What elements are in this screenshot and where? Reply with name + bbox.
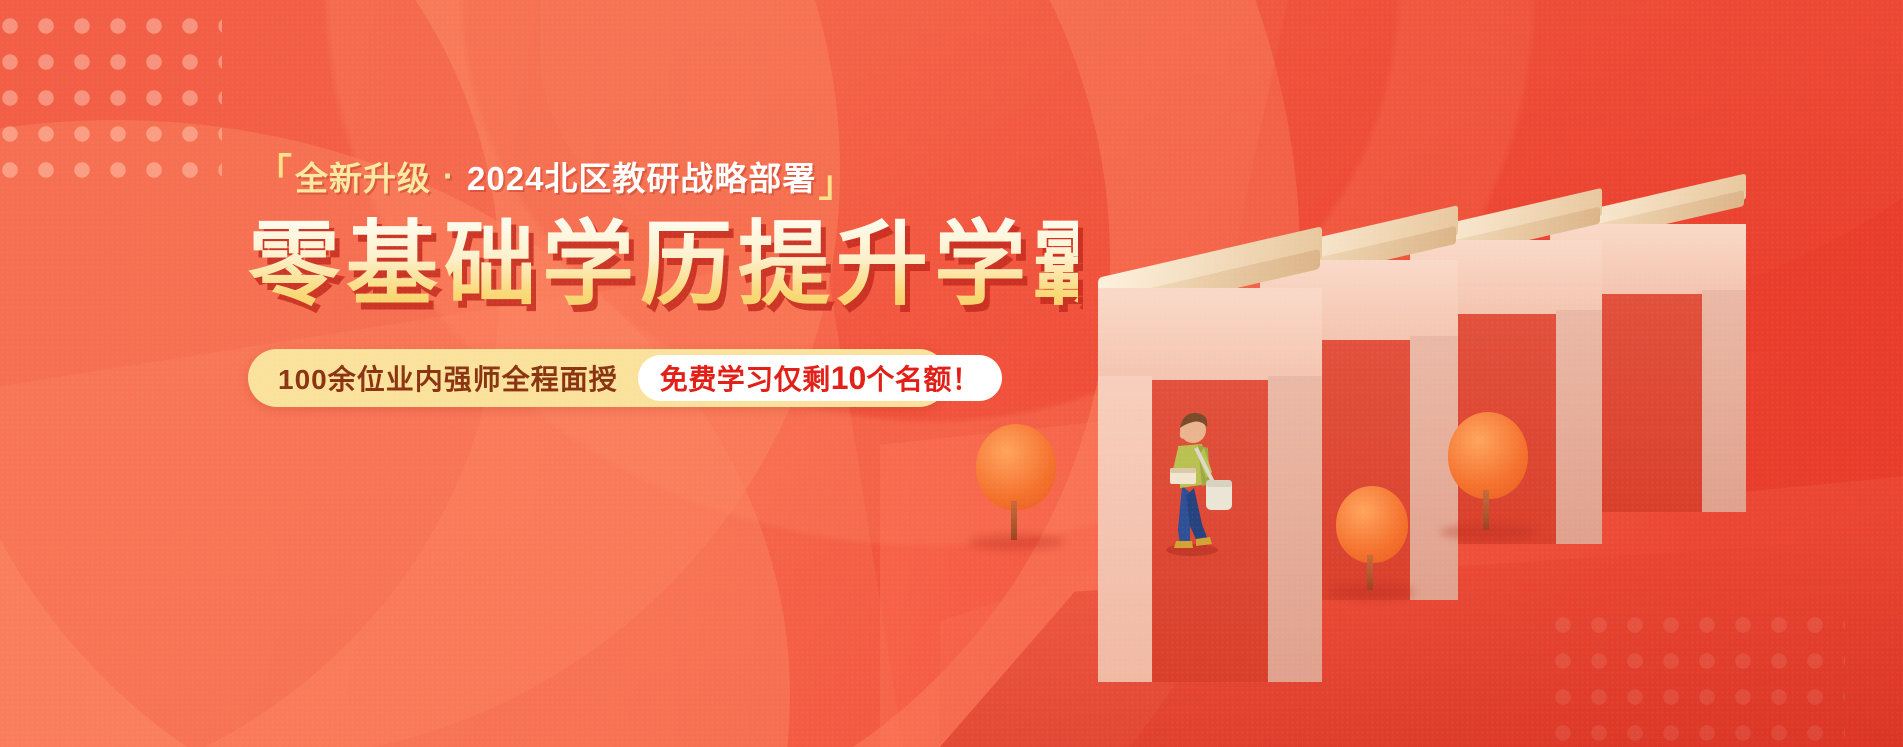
dot-grid-top-left	[0, 8, 222, 198]
eyebrow-detail: 2024北区教研战略部署	[465, 152, 818, 200]
tree-crown	[976, 424, 1056, 510]
book-arch-opening	[1594, 294, 1702, 512]
eyebrow-line: 「 全新升级 · 2024北区教研战略部署 」	[256, 150, 1078, 202]
scarcity-capsule[interactable]: 免费学习仅剩 10 个名额！	[638, 355, 1003, 401]
tree-right	[1448, 412, 1528, 530]
book-arch-leg-right	[1556, 310, 1602, 544]
eyebrow-highlight: 全新升级	[293, 152, 433, 200]
feature-pill: 100余位业内强师全程面授 免费学习仅剩 10 个名额！	[248, 349, 948, 407]
book-arch-leg-right	[1268, 376, 1322, 682]
book-arch-leg-right	[1702, 290, 1746, 512]
illustration	[940, 0, 1903, 747]
tree-shadow	[968, 534, 1064, 550]
scarcity-suffix: 个名额！	[866, 358, 980, 398]
feature-pill-label: 100余位业内强师全程面授	[278, 358, 618, 398]
tree-crown	[1448, 412, 1528, 499]
bracket-close-icon: 」	[818, 166, 855, 202]
tree-shadow	[1440, 524, 1536, 540]
page-title: 零基础学历提升学霸班	[248, 216, 1078, 315]
copy-block: 「 全新升级 · 2024北区教研战略部署 」 零基础学历提升学霸班 100余位…	[248, 150, 1078, 407]
tree-mid	[1336, 486, 1408, 590]
promo-banner: 「 全新升级 · 2024北区教研战略部署 」 零基础学历提升学霸班 100余位…	[0, 0, 1903, 747]
tree-crown	[1336, 486, 1408, 563]
tree-left	[976, 424, 1056, 540]
scarcity-prefix: 免费学习仅剩	[660, 358, 831, 398]
eyebrow-separator: ·	[433, 157, 465, 195]
bracket-open-icon: 「	[256, 154, 293, 190]
tree-shadow	[1329, 584, 1415, 600]
scarcity-count: 10	[831, 360, 867, 397]
walking-student-figure	[1136, 398, 1246, 558]
